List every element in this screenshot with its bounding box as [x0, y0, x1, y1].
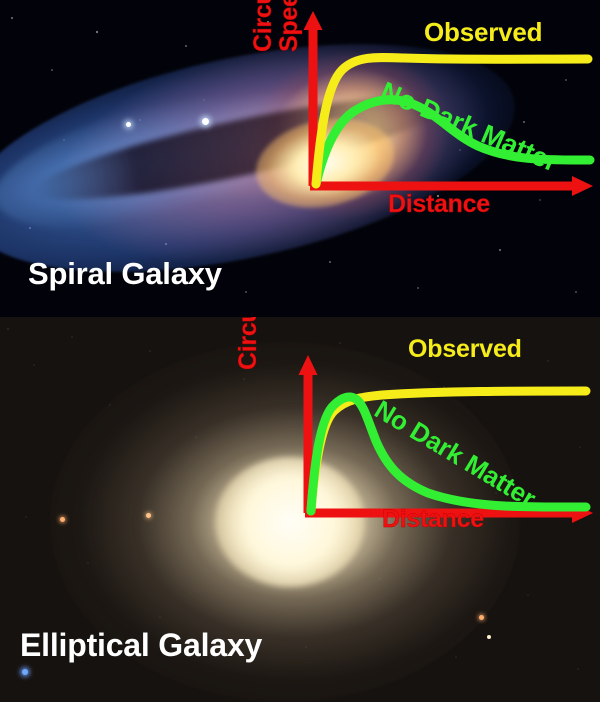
panel-spiral-galaxy: Circular Speed Distance Observed No Dark…: [0, 0, 600, 317]
spiral-observed-curve-label: Observed: [424, 17, 542, 48]
elliptical-galaxy-caption: Elliptical Galaxy: [20, 627, 262, 664]
spiral-y-axis-label: Circular Speed: [250, 0, 302, 52]
elliptical-observed-curve-label: Observed: [408, 335, 522, 364]
elliptical-y-axis-label-line1: Circular: [234, 317, 262, 370]
elliptical-x-axis-label: Distance: [382, 505, 484, 534]
spiral-galaxy-caption: Spiral Galaxy: [28, 256, 222, 292]
spiral-y-axis-label-line1: Circular: [249, 0, 277, 52]
spiral-x-axis-label: Distance: [388, 190, 490, 219]
galaxy-rotation-curve-figure: Circular Speed Distance Observed No Dark…: [0, 0, 600, 702]
spiral-y-axis-label-line2: Speed: [276, 0, 302, 52]
elliptical-y-axis-label: Circular Speed: [235, 317, 261, 370]
